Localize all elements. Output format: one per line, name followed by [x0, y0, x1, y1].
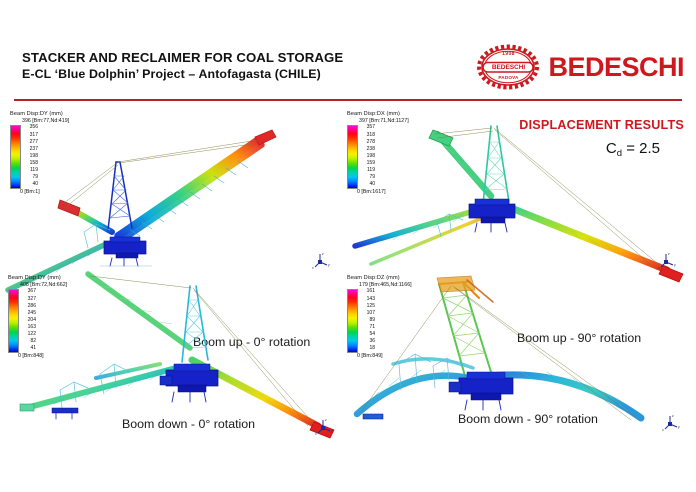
svg-text:y: y	[331, 429, 333, 433]
svg-text:x: x	[315, 432, 317, 436]
svg-text:z: z	[325, 418, 327, 422]
page-subtitle: E-CL ‘Blue Dolphin’ Project – Antofagast…	[22, 66, 343, 83]
svg-text:y: y	[678, 425, 680, 429]
page-title: STACKER AND RECLAIMER FOR COAL STORAGE	[22, 50, 343, 66]
logo-badge-year: 1908	[477, 51, 539, 57]
fea-viewport-panel2	[341, 104, 696, 268]
logo-wordmark: BEDESCHI	[548, 54, 684, 81]
caption-panel3: Boom down - 0° rotation	[122, 417, 255, 431]
fea-panel-boom-up-0: Beam Disp:DY (mm) 396 [Bm:77,Nd:419] 356…	[0, 104, 348, 268]
fea-panel-boom-down-90: Beam Disp:DZ (mm) 179 [Bm:465,Nd:1166] 1…	[341, 268, 696, 446]
bedeschi-gear-badge-icon: 1908 BEDESCHI PADOVA	[477, 45, 539, 89]
fea-panel-boom-down-0: Beam Disp:DY (mm) 408 [Bm:72,Nd:662] 367…	[0, 268, 348, 446]
logo-badge-city: PADOVA	[477, 75, 539, 80]
axis-triad-icon-panel1: z y x	[311, 250, 333, 270]
axis-triad-icon-panel4: z y x	[661, 412, 683, 432]
svg-text:x: x	[662, 428, 664, 432]
fea-viewport-panel1	[0, 104, 348, 268]
fea-panel-boom-up-90: Beam Disp:DX (mm) 397 [Bm:71,Nd:1127] 35…	[341, 104, 696, 268]
svg-text:z: z	[322, 252, 324, 256]
header-divider	[14, 99, 682, 101]
title-block: STACKER AND RECLAIMER FOR COAL STORAGE E…	[22, 50, 343, 83]
svg-text:y: y	[328, 263, 330, 267]
slide-header: STACKER AND RECLAIMER FOR COAL STORAGE E…	[0, 0, 696, 96]
svg-text:z: z	[672, 414, 674, 418]
svg-text:z: z	[668, 252, 670, 256]
caption-panel4: Boom down - 90° rotation	[458, 412, 598, 426]
svg-text:y: y	[674, 263, 676, 267]
bedeschi-logo: 1908 BEDESCHI PADOVA BEDESCHI	[477, 45, 684, 89]
axis-triad-icon-panel2: z y x	[657, 250, 679, 270]
logo-badge-name: BEDESCHI	[477, 64, 539, 71]
slide: STACKER AND RECLAIMER FOR COAL STORAGE E…	[0, 0, 696, 492]
axis-triad-icon-panel3: z y x	[314, 416, 336, 436]
